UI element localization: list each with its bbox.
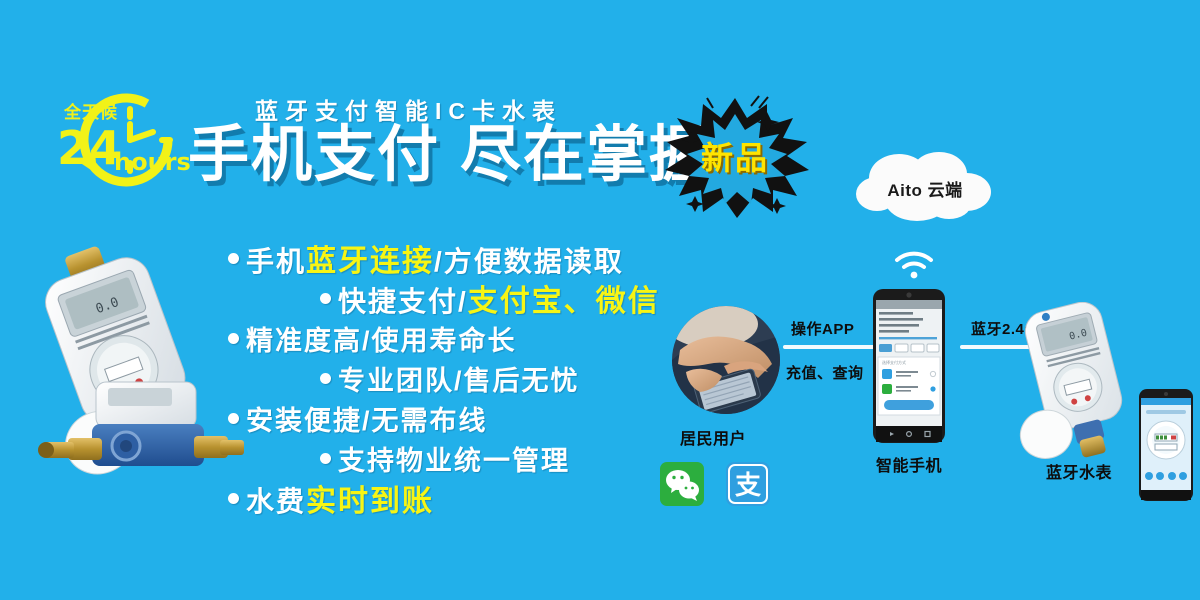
smartphone-device: 选择支付方式: [872, 288, 946, 444]
feature-list: 手机蓝牙连接/方便数据读取 快捷支付/支付宝、微信 精准度高/使用寿命长 专业团…: [228, 238, 698, 518]
feature-item-5: 安装便捷/无需布线: [228, 398, 698, 438]
label-resident-user: 居民用户: [680, 425, 746, 449]
svg-text:hours: hours: [114, 148, 191, 176]
bullet-dot-icon: [228, 493, 239, 504]
banner-title: 手机支付尽在掌握: [188, 124, 712, 185]
feature-item-7: 水费实时到账: [228, 478, 698, 518]
label-bluetooth-meter: 蓝牙水表: [1046, 459, 1112, 483]
label-operate-app: 操作APP: [791, 318, 854, 339]
feature-item-2: 快捷支付/支付宝、微信: [228, 278, 698, 318]
feature-item-4: 专业团队/售后无忧: [228, 358, 698, 398]
cloud-icon: Aito 云端: [855, 148, 995, 226]
bullet-dot-icon: [228, 413, 239, 424]
feature-text-6: 支持物业统一管理: [338, 439, 570, 478]
wifi-icon: [893, 248, 935, 280]
feature-text-3: 精准度高/使用寿命长: [246, 319, 517, 358]
bullet-dot-icon: [320, 293, 331, 304]
bullet-dot-icon: [228, 253, 239, 264]
feature-text-4: 专业团队/售后无忧: [338, 359, 580, 398]
feature-item-1: 手机蓝牙连接/方便数据读取: [228, 238, 698, 278]
bullet-dot-icon: [320, 453, 331, 464]
svg-text:24: 24: [57, 121, 121, 175]
label-recharge-query: 充值、查询: [786, 362, 864, 383]
feature-text-7: 水费实时到账: [246, 476, 434, 520]
feature-text-5: 安装便捷/无需布线: [246, 399, 488, 438]
bullet-dot-icon: [228, 333, 239, 344]
twentyfour-hours-badge: 全天候 24 hours: [52, 84, 200, 196]
feature-text-1: 手机蓝牙连接/方便数据读取: [246, 236, 624, 280]
svg-text:全天候: 全天候: [63, 102, 118, 123]
new-product-badge-label: 新品: [655, 133, 815, 179]
connector-line-user-phone: [783, 345, 879, 349]
feature-text-2: 快捷支付/支付宝、微信: [338, 276, 660, 320]
svg-text:支: 支: [735, 471, 761, 501]
water-meter-product-photo: 0.0: [8, 232, 244, 522]
bluetooth-water-meter-photo: 0.0: [1002, 302, 1152, 462]
wechat-pay-icon[interactable]: [660, 462, 704, 506]
cloud-label: Aito 云端: [855, 176, 995, 201]
resident-user-photo: [672, 306, 780, 414]
label-smartphone: 智能手机: [876, 452, 942, 476]
svg-text:选择支付方式: 选择支付方式: [882, 359, 906, 365]
payment-icons-group: 支: [660, 462, 770, 506]
bullet-dot-icon: [320, 373, 331, 384]
banner-title-part1: 手机支付: [188, 120, 440, 188]
meter-app-phone: [1138, 388, 1194, 502]
banner-canvas: 全天候 24 hours 蓝牙支付智能IC卡水表 手机支付尽在掌握 新品: [0, 0, 1200, 600]
alipay-icon[interactable]: 支: [726, 462, 770, 506]
feature-item-6: 支持物业统一管理: [228, 438, 698, 478]
new-product-badge: 新品: [655, 92, 815, 222]
feature-item-3: 精准度高/使用寿命长: [228, 318, 698, 358]
